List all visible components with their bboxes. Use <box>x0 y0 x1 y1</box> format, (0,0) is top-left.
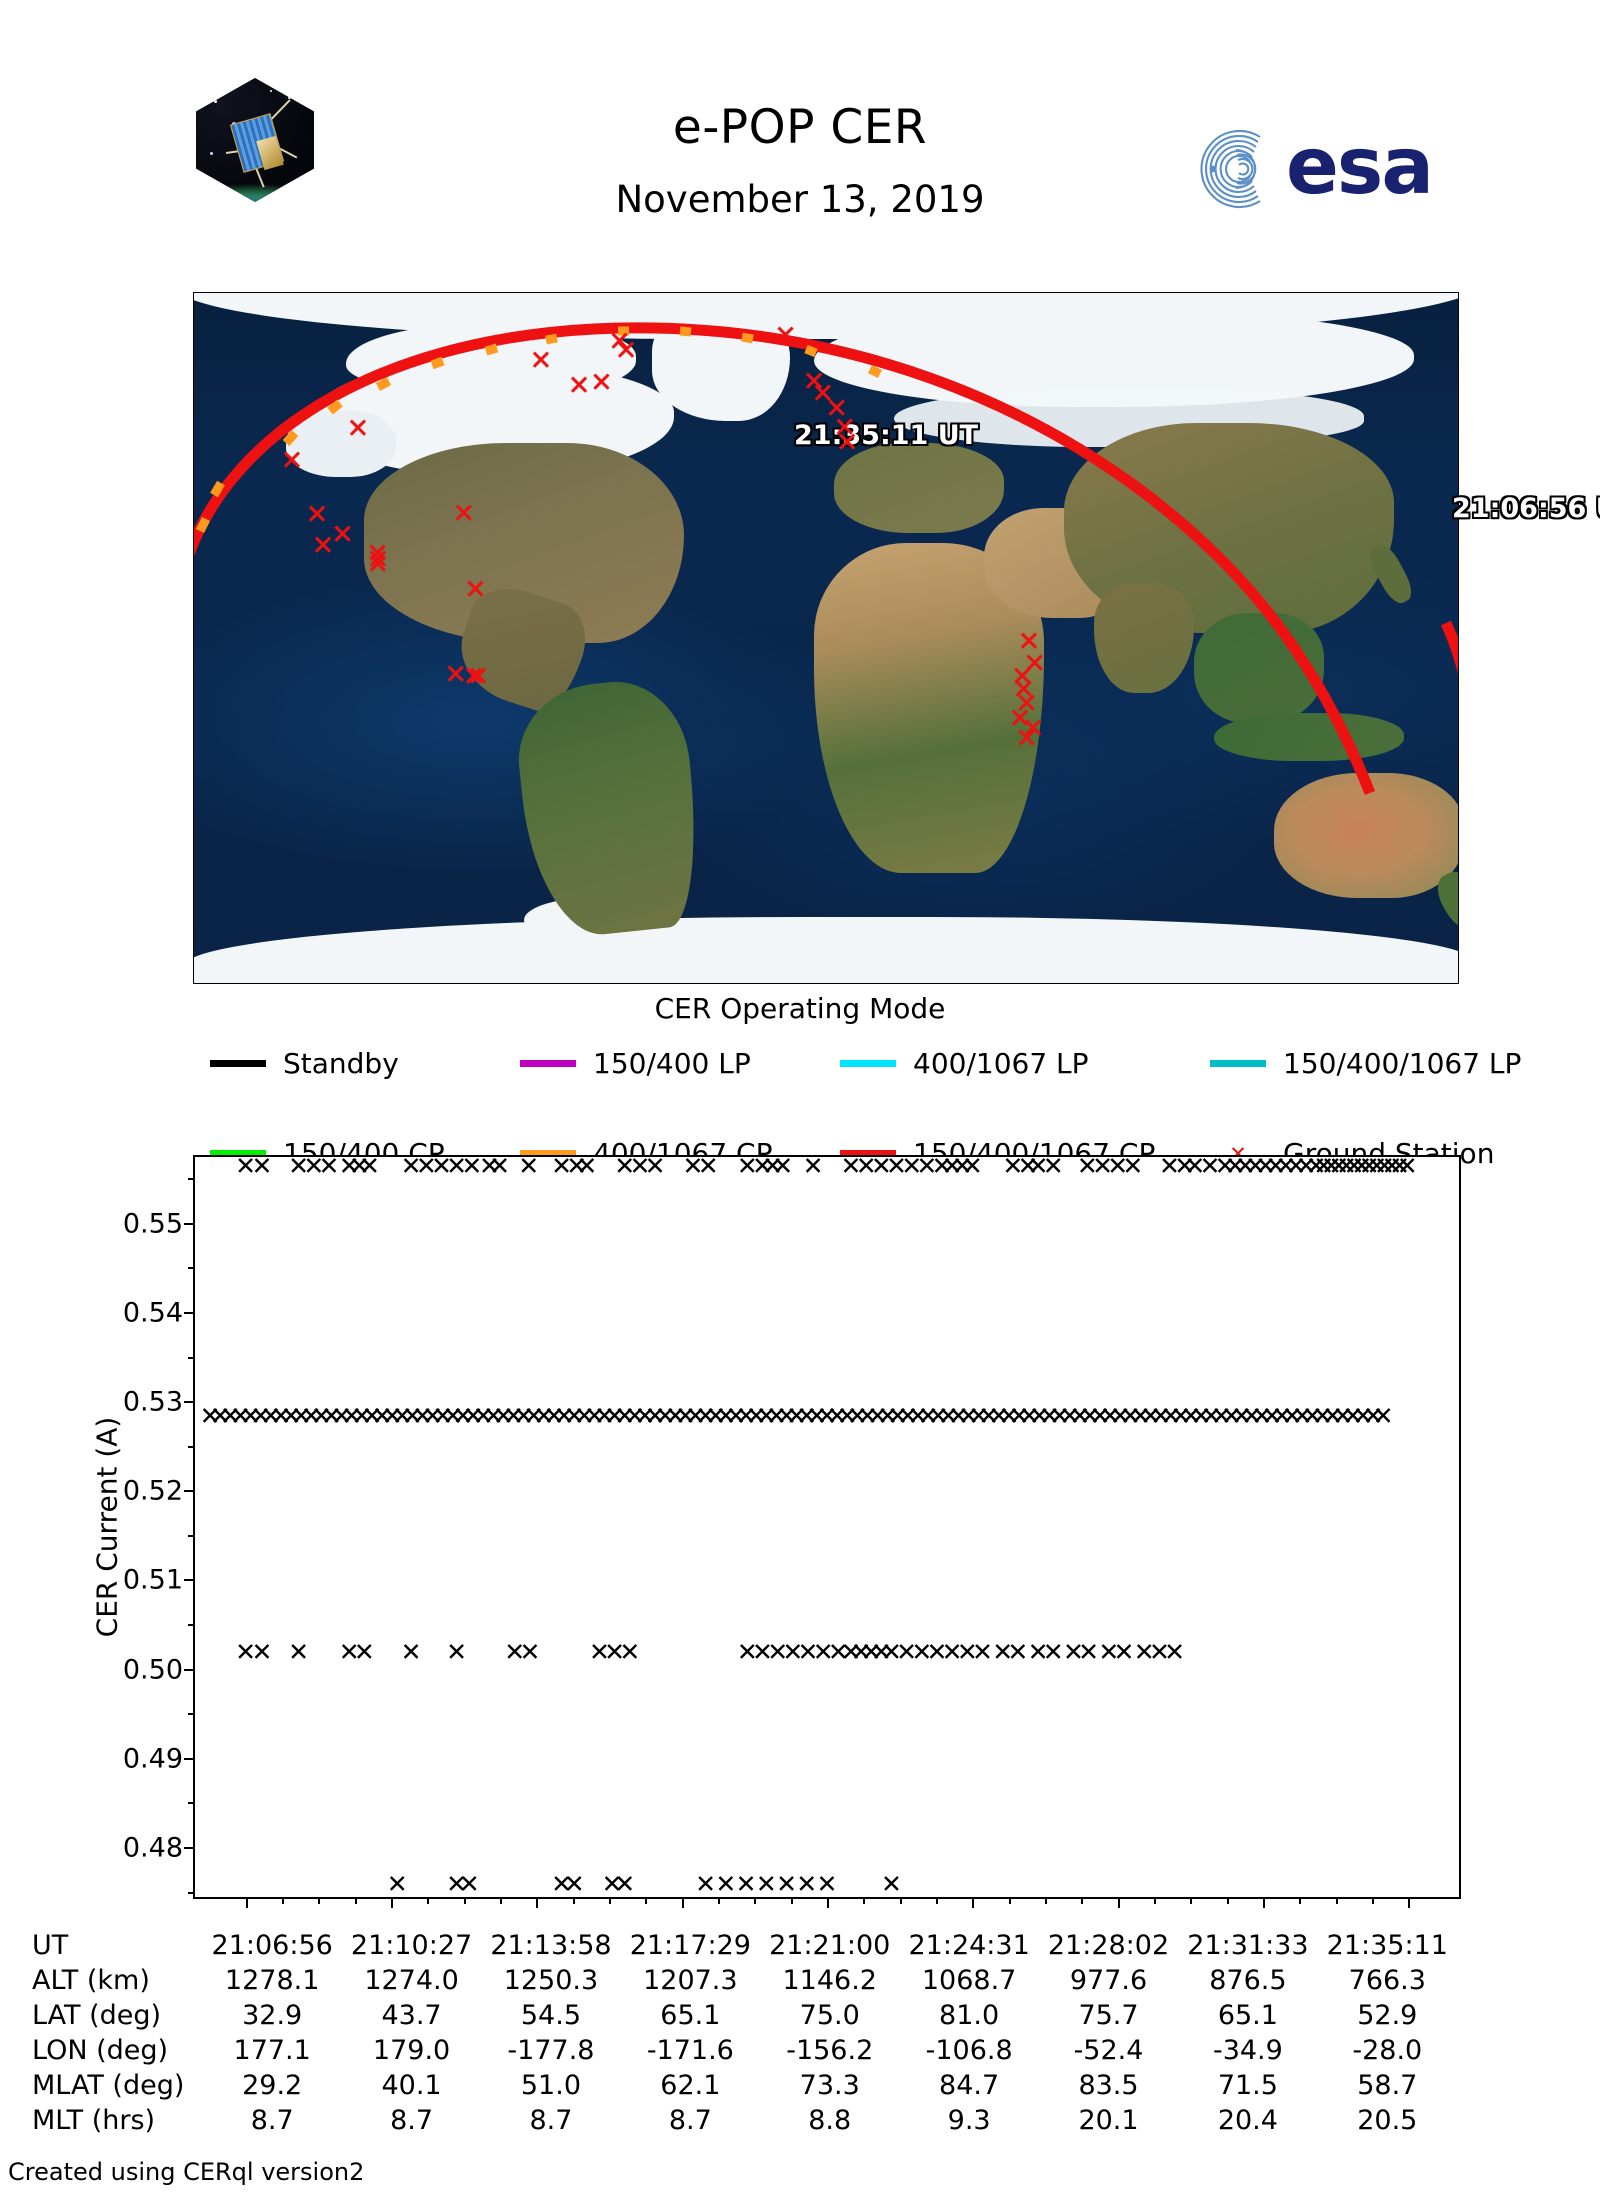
table-cell: 73.3 <box>760 2068 899 2103</box>
x-axis-minor-tick <box>863 1897 865 1904</box>
x-axis-minor-tick <box>1009 1897 1011 1904</box>
legend-item[interactable]: Standby <box>210 1047 399 1080</box>
ground-station-marker: ✕ <box>306 502 329 529</box>
y-axis-minor-tick <box>188 1892 195 1894</box>
data-point-marker: ✕ <box>489 1153 510 1178</box>
data-point-marker: ✕ <box>796 1871 817 1896</box>
y-axis-minor-tick <box>188 1624 195 1626</box>
table-cell: 1146.2 <box>760 1963 899 1998</box>
data-point-marker: ✕ <box>446 1639 467 1664</box>
table-cell: -177.8 <box>481 2033 620 2068</box>
x-axis-minor-tick <box>282 1897 284 1904</box>
x-axis-tick <box>1408 1897 1410 1908</box>
data-point-marker: ✕ <box>1122 1153 1143 1178</box>
table-cell: 62.1 <box>621 2068 760 2103</box>
line-swatch-icon <box>840 1060 896 1067</box>
table-cell: -52.4 <box>1039 2033 1178 2068</box>
table-cell: 766.3 <box>1318 1963 1457 1998</box>
data-point-marker: ✕ <box>1397 1153 1418 1178</box>
table-cell: 65.1 <box>1178 1998 1317 2033</box>
esa-wordmark: esa <box>1286 122 1432 212</box>
table-cell: 81.0 <box>899 1998 1038 2033</box>
data-point-marker: ✕ <box>817 1871 838 1896</box>
table-cell: -34.9 <box>1178 2033 1317 2068</box>
y-axis-tick <box>184 1401 195 1403</box>
data-point-marker: ✕ <box>401 1639 422 1664</box>
table-row: LON (deg)177.1179.0-177.8-171.6-156.2-10… <box>32 2033 1457 2068</box>
data-point-marker: ✕ <box>519 1639 540 1664</box>
data-point-marker: ✕ <box>698 1153 719 1178</box>
table-cell: 1278.1 <box>202 1963 341 1998</box>
ground-station-marker: ✕ <box>836 430 859 457</box>
legend-row: 150/400 CP400/1067 CP150/400/1067 CP✕Gro… <box>210 1092 1410 1137</box>
data-point-marker: ✕ <box>288 1639 309 1664</box>
legend-row: Standby150/400 LP400/1067 LP150/400/1067… <box>210 1047 1410 1092</box>
data-point-marker: ✕ <box>252 1153 273 1178</box>
table-row-label: ALT (km) <box>32 1963 202 1998</box>
x-axis-minor-tick <box>1227 1897 1229 1904</box>
x-axis-tick <box>827 1897 829 1908</box>
data-point-marker: ✕ <box>252 1639 273 1664</box>
y-axis-tick-label: 0.50 <box>0 1654 183 1685</box>
table-cell: -171.6 <box>621 2033 760 2068</box>
ground-station-marker: ✕ <box>467 663 490 690</box>
cer-current-plot[interactable]: CER Current (A) 0.480.490.500.510.520.53… <box>193 1155 1461 1899</box>
x-axis-minor-tick <box>1372 1897 1374 1904</box>
ground-station-marker: ✕ <box>1015 726 1038 753</box>
world-map-panel[interactable]: 21:35:11 UT 21:06:56 UT ✕✕✕✕✕✕✕✕✕✕✕✕✕✕✕✕… <box>193 292 1459 984</box>
table-row: ALT (km)1278.11274.01250.31207.31146.210… <box>32 1963 1457 1998</box>
legend-title: CER Operating Mode <box>0 992 1600 1025</box>
page-header: e-POP CER November 13, 2019 esa <box>0 0 1600 270</box>
ground-station-marker: ✕ <box>530 348 553 375</box>
x-axis-minor-tick <box>427 1897 429 1904</box>
ground-station-marker: ✕ <box>366 551 389 578</box>
table-row-label: LON (deg) <box>32 2033 202 2068</box>
ground-station-marker: ✕ <box>281 448 304 475</box>
table-cell: 21:10:27 <box>342 1928 481 1963</box>
data-point-marker: ✕ <box>359 1153 380 1178</box>
y-axis-tick <box>184 1490 195 1492</box>
x-axis-minor-tick <box>1190 1897 1192 1904</box>
table-cell: 52.9 <box>1318 1998 1457 2033</box>
table-cell: 21:17:29 <box>621 1928 760 1963</box>
table-cell: 54.5 <box>481 1998 620 2033</box>
table-cell: 179.0 <box>342 2033 481 2068</box>
ground-station-marker: ✕ <box>615 338 638 365</box>
table-cell: 75.0 <box>760 1998 899 2033</box>
esa-agency-logo: esa <box>1190 128 1480 210</box>
y-axis-tick <box>184 1847 195 1849</box>
table-cell: 1274.0 <box>342 1963 481 1998</box>
ground-station-marker: ✕ <box>568 373 591 400</box>
y-axis-tick-label: 0.55 <box>0 1208 183 1239</box>
table-cell: 20.4 <box>1178 2103 1317 2138</box>
x-axis-minor-tick <box>645 1897 647 1904</box>
table-row-label: LAT (deg) <box>32 1998 202 2033</box>
table-cell: -106.8 <box>899 2033 1038 2068</box>
table-cell: 83.5 <box>1039 2068 1178 2103</box>
legend-item[interactable]: 150/400 LP <box>520 1047 751 1080</box>
table-cell: 8.7 <box>481 2103 620 2138</box>
table-cell: 43.7 <box>342 1998 481 2033</box>
table-cell: 20.5 <box>1318 2103 1457 2138</box>
data-point-marker: ✕ <box>564 1871 585 1896</box>
data-point-marker: ✕ <box>715 1871 736 1896</box>
table-cell: 177.1 <box>202 2033 341 2068</box>
table-cell: 21:31:33 <box>1178 1928 1317 1963</box>
y-axis-minor-tick <box>188 1357 195 1359</box>
data-point-marker: ✕ <box>736 1871 757 1896</box>
footer-note: Created using CERql version2 <box>8 2158 364 2186</box>
table-cell: 21:28:02 <box>1039 1928 1178 1963</box>
y-axis-minor-tick <box>188 1535 195 1537</box>
table-row: MLT (hrs)8.78.78.78.78.89.320.120.420.5 <box>32 2103 1457 2138</box>
x-axis-minor-tick <box>1154 1897 1156 1904</box>
table-cell: 21:06:56 <box>202 1928 341 1963</box>
table-cell: 8.8 <box>760 2103 899 2138</box>
data-point-marker: ✕ <box>803 1153 824 1178</box>
y-axis-minor-tick <box>188 1446 195 1448</box>
data-point-marker: ✕ <box>1373 1403 1394 1428</box>
data-point-marker: ✕ <box>1114 1639 1135 1664</box>
esa-emblem-icon <box>1190 128 1276 210</box>
operating-mode-legend: Standby150/400 LP400/1067 LP150/400/1067… <box>210 1047 1410 1137</box>
table-row: LAT (deg)32.943.754.565.175.081.075.765.… <box>32 1998 1457 2033</box>
data-point-marker: ✕ <box>354 1639 375 1664</box>
y-axis-minor-tick <box>188 1178 195 1180</box>
table-row: UT21:06:5621:10:2721:13:5821:17:2921:21:… <box>32 1928 1457 1963</box>
table-cell: -28.0 <box>1318 2033 1457 2068</box>
table-cell: 75.7 <box>1039 1998 1178 2033</box>
ground-station-marker: ✕ <box>453 500 476 527</box>
ground-station-marker: ✕ <box>590 369 613 396</box>
table-cell: 1068.7 <box>899 1963 1038 1998</box>
x-axis-tick <box>972 1897 974 1908</box>
line-swatch-icon <box>1210 1060 1266 1067</box>
y-axis-tick-label: 0.49 <box>0 1743 183 1774</box>
table-row-label: MLAT (deg) <box>32 2068 202 2103</box>
data-point-marker: ✕ <box>1007 1639 1028 1664</box>
y-axis-tick-label: 0.54 <box>0 1298 183 1329</box>
table-cell: 51.0 <box>481 2068 620 2103</box>
data-point-marker: ✕ <box>1043 1153 1064 1178</box>
table-cell: 58.7 <box>1318 2068 1457 2103</box>
x-axis-tick <box>1263 1897 1265 1908</box>
y-axis-tick <box>184 1579 195 1581</box>
map-time-label-end: 21:35:11 UT <box>794 420 978 451</box>
table-row-label: UT <box>32 1928 202 1963</box>
table-cell: 876.5 <box>1178 1963 1317 1998</box>
data-point-marker: ✕ <box>695 1871 716 1896</box>
data-point-marker: ✕ <box>1078 1639 1099 1664</box>
data-point-marker: ✕ <box>972 1639 993 1664</box>
x-axis-minor-tick <box>936 1897 938 1904</box>
ephemeris-table: UT21:06:5621:10:2721:13:5821:17:2921:21:… <box>32 1928 1592 2138</box>
data-point-marker: ✕ <box>576 1153 597 1178</box>
x-axis-minor-tick <box>1045 1897 1047 1904</box>
line-swatch-icon <box>210 1060 266 1067</box>
data-point-marker: ✕ <box>614 1871 635 1896</box>
y-axis-tick <box>184 1669 195 1671</box>
table-row-label: MLT (hrs) <box>32 2103 202 2138</box>
ground-station-marker: ✕ <box>464 577 487 604</box>
table-cell: 40.1 <box>342 2068 481 2103</box>
data-point-marker: ✕ <box>1043 1639 1064 1664</box>
x-axis-tick <box>391 1897 393 1908</box>
x-axis-tick <box>536 1897 538 1908</box>
table-cell: 21:24:31 <box>899 1928 1038 1963</box>
data-point-marker: ✕ <box>459 1871 480 1896</box>
legend-item-label: 400/1067 LP <box>913 1047 1089 1080</box>
legend-item[interactable]: 400/1067 LP <box>840 1047 1089 1080</box>
table-cell: 8.7 <box>621 2103 760 2138</box>
y-axis-tick-label: 0.53 <box>0 1387 183 1418</box>
data-point-marker: ✕ <box>881 1871 902 1896</box>
y-axis-tick-label: 0.51 <box>0 1565 183 1596</box>
data-point-marker: ✕ <box>645 1153 666 1178</box>
y-axis-tick <box>184 1758 195 1760</box>
table-cell: 8.7 <box>342 2103 481 2138</box>
table-cell: 1207.3 <box>621 1963 760 1998</box>
y-axis-minor-tick <box>188 1713 195 1715</box>
table-cell: 71.5 <box>1178 2068 1317 2103</box>
map-time-label-start: 21:06:56 UT <box>1452 493 1600 524</box>
y-axis-tick <box>184 1223 195 1225</box>
table-cell: 32.9 <box>202 1998 341 2033</box>
y-axis-tick <box>184 1312 195 1314</box>
x-axis-tick <box>246 1897 248 1908</box>
ground-station-marker: ✕ <box>347 415 370 442</box>
table-cell: 20.1 <box>1039 2103 1178 2138</box>
x-axis-tick <box>1118 1897 1120 1908</box>
data-point-marker: ✕ <box>518 1153 539 1178</box>
table-cell: 977.6 <box>1039 1963 1178 1998</box>
data-point-marker: ✕ <box>1164 1639 1185 1664</box>
table-row: MLAT (deg)29.240.151.062.173.384.783.571… <box>32 2068 1457 2103</box>
data-point-marker: ✕ <box>772 1153 793 1178</box>
ground-station-marker: ✕ <box>331 521 354 548</box>
data-point-marker: ✕ <box>318 1153 339 1178</box>
x-axis-tick <box>682 1897 684 1908</box>
x-axis-minor-tick <box>355 1897 357 1904</box>
y-axis-minor-tick <box>188 1802 195 1804</box>
table-cell: 29.2 <box>202 2068 341 2103</box>
legend-item-label: Standby <box>283 1047 399 1080</box>
legend-item[interactable]: 150/400/1067 LP <box>1210 1047 1521 1080</box>
x-axis-minor-tick <box>318 1897 320 1904</box>
table-cell: 21:13:58 <box>481 1928 620 1963</box>
data-point-marker: ✕ <box>776 1871 797 1896</box>
x-axis-minor-tick <box>500 1897 502 1904</box>
y-axis-minor-tick <box>188 1267 195 1269</box>
table-cell: 9.3 <box>899 2103 1038 2138</box>
data-point-marker: ✕ <box>756 1871 777 1896</box>
data-point-marker: ✕ <box>619 1639 640 1664</box>
data-point-marker: ✕ <box>962 1153 983 1178</box>
table-cell: 8.7 <box>202 2103 341 2138</box>
ground-station-marker: ✕ <box>774 323 797 350</box>
table-cell: 21:21:00 <box>760 1928 899 1963</box>
x-axis-minor-tick <box>1336 1897 1338 1904</box>
table-cell: 84.7 <box>899 2068 1038 2103</box>
legend-item-label: 150/400/1067 LP <box>1283 1047 1521 1080</box>
x-axis-minor-tick <box>1081 1897 1083 1904</box>
table-cell: 1250.3 <box>481 1963 620 1998</box>
table-cell: 65.1 <box>621 1998 760 2033</box>
line-swatch-icon <box>520 1060 576 1067</box>
data-point-marker: ✕ <box>387 1871 408 1896</box>
y-axis-tick-label: 0.48 <box>0 1832 183 1863</box>
y-axis-tick-label: 0.52 <box>0 1476 183 1507</box>
table-cell: -156.2 <box>760 2033 899 2068</box>
legend-item-label: 150/400 LP <box>593 1047 751 1080</box>
x-axis-minor-tick <box>1299 1897 1301 1904</box>
table-cell: 21:35:11 <box>1318 1928 1457 1963</box>
